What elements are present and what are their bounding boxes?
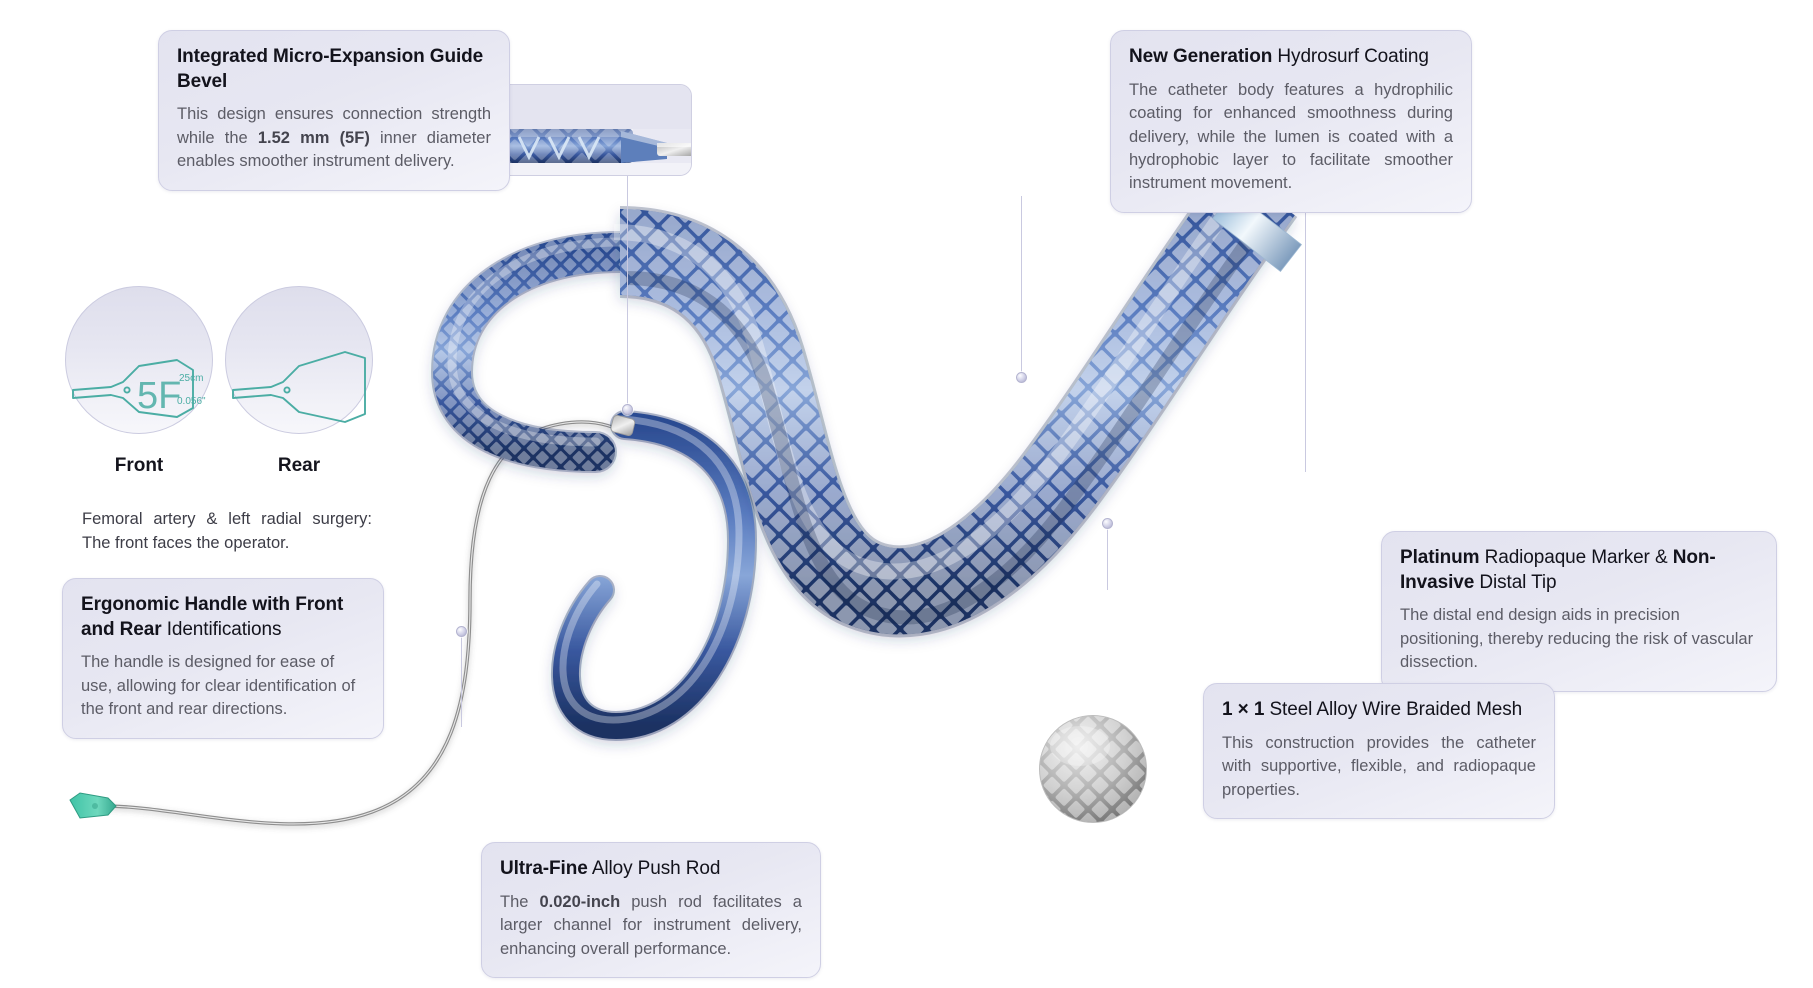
infographic-canvas: 5F 25cm 0.056" Front Rear Femoral artery… xyxy=(0,0,1813,988)
card-title: Platinum Radiopaque Marker & Non-Invasiv… xyxy=(1400,546,1758,595)
card-title: 1 × 1 Steel Alloy Wire Braided Mesh xyxy=(1222,698,1536,723)
leader-line-pushrod xyxy=(461,637,462,727)
card-platinum-radiopaque-marker-distal-tip: Platinum Radiopaque Marker & Non-Invasiv… xyxy=(1381,531,1777,692)
card-integrated-micro-expansion-guide-bevel: Integrated Micro-Expansion Guide Bevel T… xyxy=(158,30,510,191)
rear-handle-diagram xyxy=(225,286,373,434)
leader-line-coating xyxy=(1021,196,1022,376)
card-ergonomic-handle-identifications: Ergonomic Handle with Front and Rear Ide… xyxy=(62,578,384,739)
front-length-marking: 25cm xyxy=(179,373,203,384)
front-diameter-marking: 0.056" xyxy=(177,396,206,407)
card-body: The handle is designed for ease of use, … xyxy=(81,651,365,721)
card-body: The distal end design aids in precision … xyxy=(1400,604,1758,674)
rear-label: Rear xyxy=(225,455,373,477)
ergonomic-handle xyxy=(70,793,116,818)
front-size-marking: 5F xyxy=(137,375,181,417)
connector-dot-bevel xyxy=(622,404,633,415)
leader-line-platinum xyxy=(1305,212,1306,472)
connector-dot-mesh xyxy=(1102,518,1113,529)
card-steel-alloy-wire-braided-mesh: 1 × 1 Steel Alloy Wire Braided Mesh This… xyxy=(1203,683,1555,819)
front-handle-diagram: 5F 25cm 0.056" xyxy=(65,286,213,434)
card-body: The 0.020-inch push rod facilitates a la… xyxy=(500,891,802,961)
card-body: The catheter body features a hydrophilic… xyxy=(1129,79,1453,196)
card-title: Ergonomic Handle with Front and Rear Ide… xyxy=(81,593,365,642)
handle-orientation-caption: Femoral artery & left radial surgery: Th… xyxy=(82,508,372,556)
card-body: This design ensures connection strength … xyxy=(177,103,491,173)
card-title: New Generation Hydrosurf Coating xyxy=(1129,45,1453,70)
connector-dot-pushrod xyxy=(456,626,467,637)
leader-line-bevel xyxy=(627,175,628,411)
front-label: Front xyxy=(65,455,213,477)
braided-mesh-closeup-photo-inset xyxy=(1039,715,1147,823)
card-body: This construction provides the catheter … xyxy=(1222,732,1536,802)
braided-mesh-closeup-photo xyxy=(1040,716,1147,823)
card-title: Integrated Micro-Expansion Guide Bevel xyxy=(177,45,491,94)
leader-line-mesh xyxy=(1107,524,1108,590)
card-new-generation-hydrosurf-coating: New Generation Hydrosurf Coating The cat… xyxy=(1110,30,1472,213)
card-ultra-fine-alloy-push-rod: Ultra-Fine Alloy Push Rod The 0.020-inch… xyxy=(481,842,821,978)
connector-dot-coating xyxy=(1016,372,1027,383)
card-title: Ultra-Fine Alloy Push Rod xyxy=(500,857,802,882)
